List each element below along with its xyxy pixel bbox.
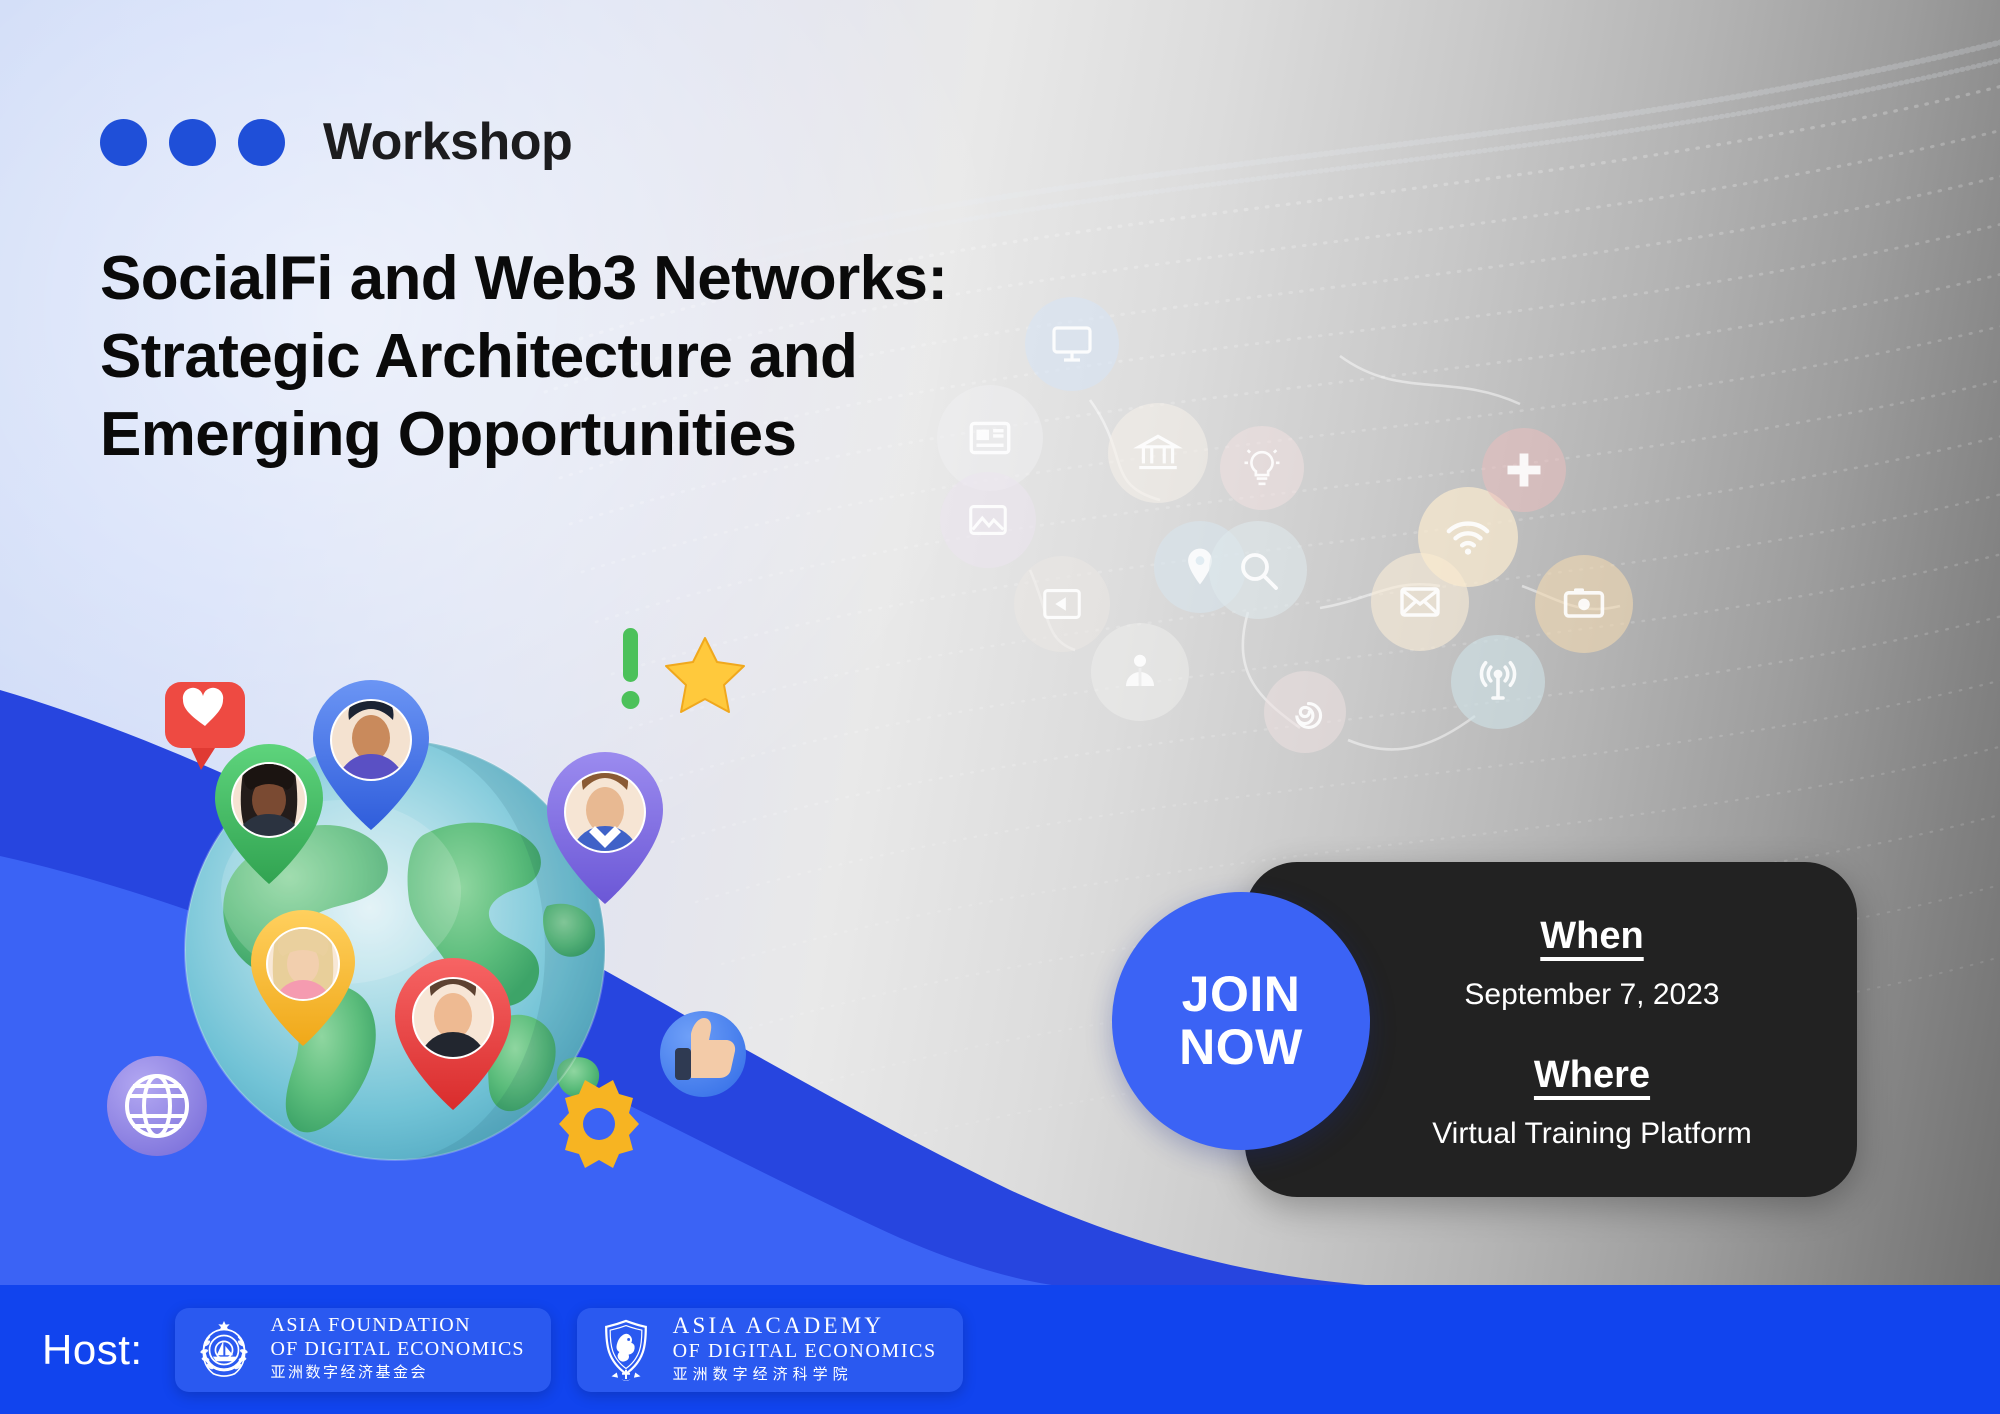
camera-icon xyxy=(1535,555,1633,653)
when-label: When xyxy=(1382,914,1802,960)
media-play-icon xyxy=(1014,556,1110,652)
title-line-3: Emerging Opportunities xyxy=(100,396,947,474)
join-now-line-1: JOIN xyxy=(1182,968,1301,1022)
host-logo-2-line-2: OF DIGITAL ECONOMICS xyxy=(673,1340,937,1364)
title-line-1: SocialFi and Web3 Networks: xyxy=(100,240,947,318)
spiral-icon xyxy=(1264,671,1346,753)
join-now-button[interactable]: JOIN NOW xyxy=(1112,892,1370,1150)
host-logo-asia-academy[interactable]: ASIA ACADEMY OF DIGITAL ECONOMICS 亚洲数字经济… xyxy=(577,1308,963,1392)
dot-2-icon xyxy=(169,119,216,166)
when-value: September 7, 2023 xyxy=(1382,976,1802,1014)
poster-canvas: Workshop SocialFi and Web3 Networks: Str… xyxy=(0,0,2000,1414)
footer-host-bar: Host: xyxy=(0,1285,2000,1414)
dot-3-icon xyxy=(238,119,285,166)
where-label: Where xyxy=(1382,1053,1802,1099)
where-value: Virtual Training Platform xyxy=(1382,1115,1802,1153)
thumbs-up-icon xyxy=(660,1011,746,1097)
host-logo-1-line-1: ASIA FOUNDATION xyxy=(271,1314,525,1338)
dot-1-icon xyxy=(100,119,147,166)
exclamation-mark xyxy=(622,628,640,709)
globe-network-icon xyxy=(107,1056,207,1156)
eyebrow: Workshop xyxy=(100,112,572,172)
lightbulb-icon xyxy=(1220,426,1304,510)
astronaut-icon xyxy=(1091,623,1189,721)
medical-cross-icon xyxy=(1482,428,1566,512)
title-line-2: Strategic Architecture and xyxy=(100,318,947,396)
broadcast-icon xyxy=(1451,635,1545,729)
page-title: SocialFi and Web3 Networks: Strategic Ar… xyxy=(100,240,947,474)
host-logo-asia-foundation[interactable]: ASIA FOUNDATION OF DIGITAL ECONOMICS 亚洲数… xyxy=(175,1308,551,1392)
star-icon xyxy=(666,638,744,712)
host-logo-2-line-cn: 亚洲数字经济科学院 xyxy=(673,1364,937,1387)
shield-lion-crest-emblem xyxy=(593,1317,659,1383)
global-social-network-globe xyxy=(95,620,775,1220)
join-now-line-2: NOW xyxy=(1179,1021,1303,1075)
host-logo-1-line-2: OF DIGITAL ECONOMICS xyxy=(271,1338,525,1362)
wmo-sailboat-wreath-emblem xyxy=(191,1317,257,1383)
search-icon xyxy=(1209,521,1307,619)
host-label: Host: xyxy=(42,1329,143,1371)
image-photo-icon xyxy=(940,472,1036,568)
host-logo-1-line-cn: 亚洲数字经济基金会 xyxy=(271,1362,525,1385)
host-logo-2-line-1: ASIA ACADEMY xyxy=(673,1312,937,1339)
monitor-icon xyxy=(1025,297,1119,391)
eyebrow-label: Workshop xyxy=(323,112,572,172)
bank-museum-icon xyxy=(1108,403,1208,503)
heart-reaction-bubble xyxy=(165,682,245,770)
